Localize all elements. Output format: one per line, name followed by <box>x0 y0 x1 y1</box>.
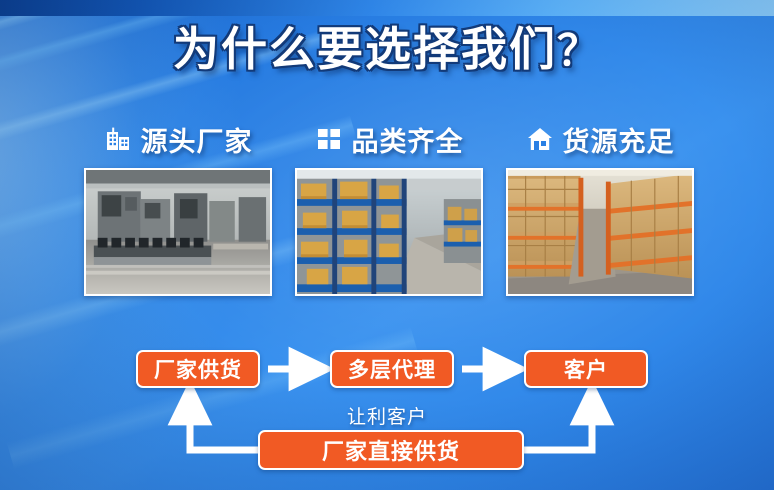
poster-canvas: 为什么要选择我们？ <box>0 0 774 490</box>
feature-title: 源头厂家 <box>141 120 253 159</box>
flow-node-factory-supply[interactable]: 厂家供货 <box>136 350 260 388</box>
feature-item-ample-supply: 货源充足 <box>506 118 694 296</box>
supply-chain-flow-diagram: 厂家供货 多层代理 客户 让利客户 厂家直接供货 <box>0 336 774 486</box>
top-gradient-bar <box>0 0 774 16</box>
grid-squares-icon <box>315 125 343 153</box>
flow-node-factory-direct-supply[interactable]: 厂家直接供货 <box>258 430 524 470</box>
flow-note-benefit: 让利客户 <box>0 402 774 429</box>
feature-item-source-factory: 源头厂家 <box>84 118 272 296</box>
feature-header: 货源充足 <box>506 118 694 160</box>
question-mark: ？ <box>557 27 601 74</box>
flow-node-multi-layer-agent[interactable]: 多层代理 <box>330 350 454 388</box>
factory-icon <box>104 125 132 153</box>
house-icon <box>526 125 554 153</box>
feature-header: 源头厂家 <box>84 118 272 160</box>
feature-item-full-category: 品类齐全 <box>295 118 483 296</box>
feature-columns: 源头厂家 <box>84 118 694 296</box>
page-title-text: 为什么要选择我们 <box>173 23 557 75</box>
stocked-warehouse-photo <box>506 168 694 296</box>
flow-node-customer[interactable]: 客户 <box>524 350 648 388</box>
feature-title: 品类齐全 <box>352 120 464 159</box>
page-title: 为什么要选择我们？ <box>0 26 774 72</box>
factory-production-line-photo <box>84 168 272 296</box>
feature-title: 货源充足 <box>563 120 675 159</box>
feature-header: 品类齐全 <box>295 118 483 160</box>
warehouse-shelving-photo <box>295 168 483 296</box>
